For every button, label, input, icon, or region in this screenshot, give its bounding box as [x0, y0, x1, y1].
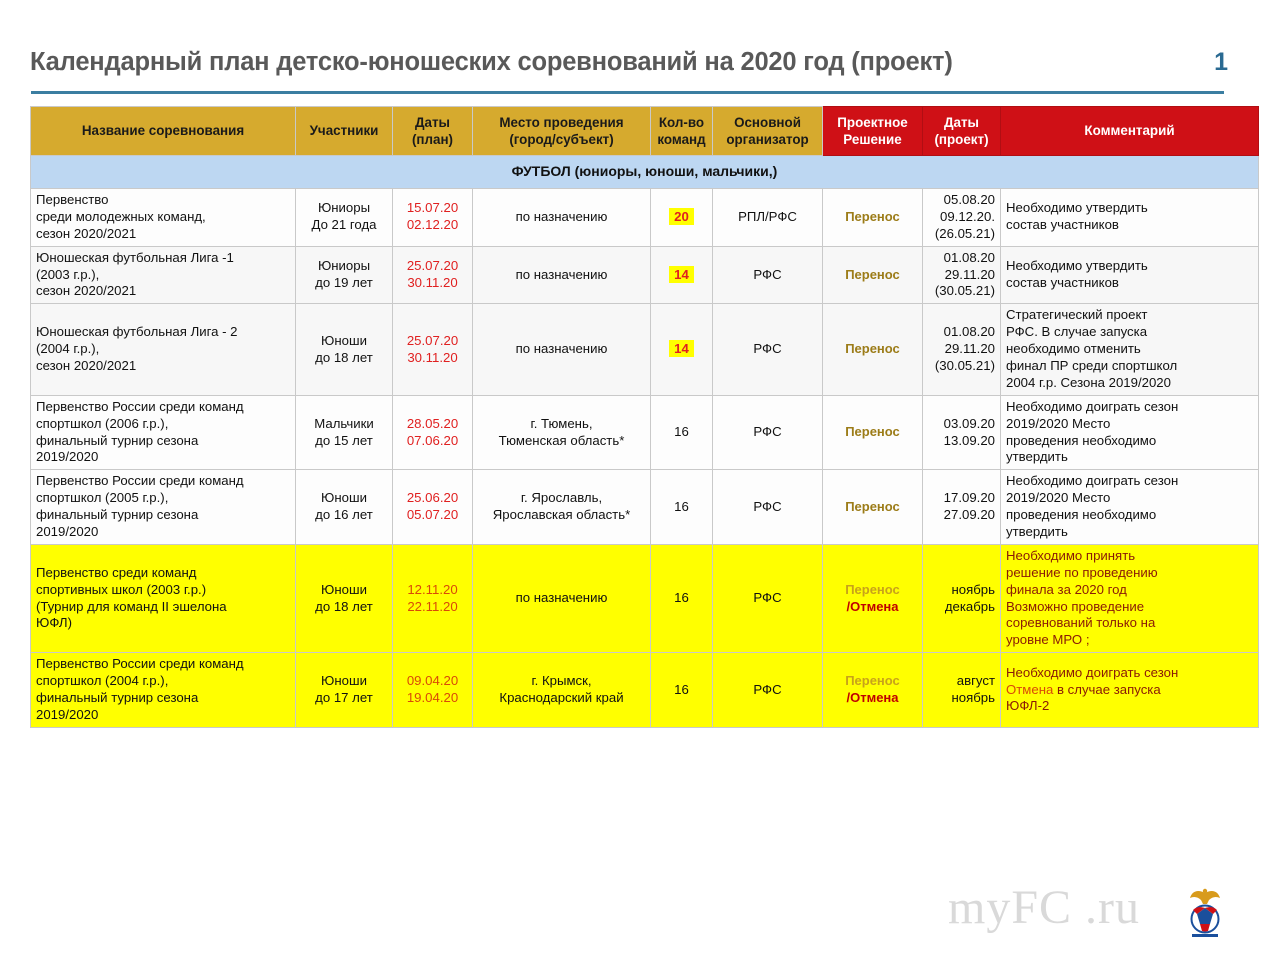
cell-dates-plan: 09.04.2019.04.20 — [393, 653, 473, 728]
table-column-header-8: Комментарий — [1001, 107, 1259, 156]
column-header-line1: Комментарий — [1084, 123, 1174, 138]
column-header-line1: Даты — [415, 115, 450, 130]
cell-competition-name: Первенство среди командспортивных школ (… — [31, 544, 296, 652]
cell-project-decision: Перенос — [823, 304, 923, 395]
column-header-line1: Даты — [944, 115, 979, 130]
cell-comment: Необходимо принятьрешение по проведениюф… — [1001, 544, 1259, 652]
cell-dates-project: 17.09.2027.09.20 — [923, 470, 1001, 545]
cell-place: по назначению — [473, 544, 651, 652]
column-header-line1: Место проведения — [499, 115, 623, 130]
column-header-line2: команд — [657, 132, 705, 147]
cell-dates-project: 01.08.2029.11.20(30.05.21) — [923, 246, 1001, 304]
decision-primary: Перенос — [845, 499, 900, 514]
column-header-line2: (город/субъект) — [509, 132, 613, 147]
table-column-header-7: Даты(проект) — [923, 107, 1001, 156]
cell-team-count: 16 — [651, 544, 713, 652]
cell-project-decision: Перенос — [823, 246, 923, 304]
cell-team-count: 16 — [651, 470, 713, 545]
cell-team-count: 20 — [651, 189, 713, 247]
table-column-header-3: Место проведения(город/субъект) — [473, 107, 651, 156]
table-row: Первенство России среди командспортшкол … — [31, 470, 1259, 545]
slide-canvas: Календарный план детско-юношеских соревн… — [0, 0, 1280, 960]
cell-dates-project: 05.08.2009.12.20.(26.05.21) — [923, 189, 1001, 247]
title-divider — [31, 91, 1224, 94]
cell-dates-project: 01.08.2029.11.20(30.05.21) — [923, 304, 1001, 395]
decision-primary: Перенос — [845, 673, 900, 688]
cell-team-count: 16 — [651, 395, 713, 470]
table-header-row: Название соревнованияУчастникиДаты(план)… — [31, 107, 1259, 156]
cell-place: г. Ярославль,Ярославская область* — [473, 470, 651, 545]
decision-primary: Перенос — [845, 341, 900, 356]
column-header-line1: Участники — [310, 123, 379, 138]
cell-competition-name: Юношеская футбольная Лига -1(2003 г.р.),… — [31, 246, 296, 304]
cell-organizer: РФС — [713, 304, 823, 395]
cell-team-count: 14 — [651, 246, 713, 304]
table-row: Первенствосреди молодежных команд,сезон … — [31, 189, 1259, 247]
decision-primary: Перенос — [845, 424, 900, 439]
cell-competition-name: Первенство России среди командспортшкол … — [31, 470, 296, 545]
table-column-header-6: ПроектноеРешение — [823, 107, 923, 156]
cell-project-decision: Перенос — [823, 470, 923, 545]
decision-cancel: /Отмена — [828, 690, 917, 707]
cell-organizer: РФС — [713, 470, 823, 545]
cell-place: г. Тюмень,Тюменская область* — [473, 395, 651, 470]
cell-participants: Мальчикидо 15 лет — [296, 395, 393, 470]
cell-participants: Юниорыдо 19 лет — [296, 246, 393, 304]
table-body: ФУТБОЛ (юниоры, юноши, мальчики,)Первенс… — [31, 156, 1259, 728]
cell-participants: Юношидо 18 лет — [296, 304, 393, 395]
cell-organizer: РПЛ/РФС — [713, 189, 823, 247]
cell-organizer: РФС — [713, 246, 823, 304]
table-row: Юношеская футбольная Лига -1(2003 г.р.),… — [31, 246, 1259, 304]
column-header-line1: Проектное — [837, 115, 907, 130]
cell-project-decision: Перенос/Отмена — [823, 544, 923, 652]
cell-place: по назначению — [473, 189, 651, 247]
slide-number: 1 — [1214, 48, 1252, 77]
page-title: Календарный план детско-юношеских соревн… — [30, 48, 953, 77]
table-section-band: ФУТБОЛ (юниоры, юноши, мальчики,) — [31, 156, 1259, 189]
cell-participants: Юношидо 18 лет — [296, 544, 393, 652]
column-header-line2: Решение — [843, 132, 901, 147]
cell-project-decision: Перенос/Отмена — [823, 653, 923, 728]
team-count-badge: 14 — [669, 266, 694, 283]
cell-dates-plan: 25.07.2030.11.20 — [393, 304, 473, 395]
cell-comment: Необходимо утвердитьсостав участников — [1001, 189, 1259, 247]
cell-comment: Необходимо утвердитьсостав участников — [1001, 246, 1259, 304]
cell-place: по назначению — [473, 304, 651, 395]
cell-organizer: РФС — [713, 544, 823, 652]
table-column-header-2: Даты(план) — [393, 107, 473, 156]
cell-participants: ЮниорыДо 21 года — [296, 189, 393, 247]
watermark-text: myFC .ru — [948, 880, 1140, 935]
cell-competition-name: Юношеская футбольная Лига - 2(2004 г.р.)… — [31, 304, 296, 395]
decision-primary: Перенос — [845, 267, 900, 282]
cell-participants: Юношидо 16 лет — [296, 470, 393, 545]
cell-project-decision: Перенос — [823, 395, 923, 470]
comment-text: Необходимо доиграть сезон — [1006, 665, 1178, 680]
cell-competition-name: Первенство России среди командспортшкол … — [31, 653, 296, 728]
comment-accent: Отмена — [1006, 682, 1053, 697]
cell-comment: Необходимо доиграть сезон2019/2020 Место… — [1001, 470, 1259, 545]
decision-primary: Перенос — [845, 582, 900, 597]
column-header-line1: Название соревнования — [82, 123, 244, 138]
team-count-badge: 14 — [669, 340, 694, 357]
cell-dates-plan: 12.11.2022.11.20 — [393, 544, 473, 652]
slide-title-row: Календарный план детско-юношеских соревн… — [30, 48, 1252, 77]
cell-place: г. Крымск,Краснодарский край — [473, 653, 651, 728]
cell-organizer: РФС — [713, 395, 823, 470]
table-column-header-5: Основнойорганизатор — [713, 107, 823, 156]
section-label: ФУТБОЛ (юниоры, юноши, мальчики,) — [31, 156, 1259, 189]
cell-comment: Необходимо доиграть сезон2019/2020 Место… — [1001, 395, 1259, 470]
cell-dates-project: 03.09.2013.09.20 — [923, 395, 1001, 470]
decision-primary: Перенос — [845, 209, 900, 224]
table-row: Юношеская футбольная Лига - 2(2004 г.р.)… — [31, 304, 1259, 395]
cell-dates-plan: 28.05.2007.06.20 — [393, 395, 473, 470]
table-row: Первенство России среди командспортшкол … — [31, 395, 1259, 470]
column-header-line2: организатор — [726, 132, 808, 147]
column-header-line1: Основной — [734, 115, 801, 130]
cell-organizer: РФС — [713, 653, 823, 728]
cell-dates-project: августноябрь — [923, 653, 1001, 728]
cell-team-count: 14 — [651, 304, 713, 395]
cell-competition-name: Первенство России среди командспортшкол … — [31, 395, 296, 470]
column-header-line2: (проект) — [934, 132, 988, 147]
cell-dates-plan: 25.07.2030.11.20 — [393, 246, 473, 304]
cell-team-count: 16 — [651, 653, 713, 728]
table-column-header-1: Участники — [296, 107, 393, 156]
cell-place: по назначению — [473, 246, 651, 304]
table-header: Название соревнованияУчастникиДаты(план)… — [31, 107, 1259, 156]
cell-project-decision: Перенос — [823, 189, 923, 247]
cell-comment: Стратегический проектРФС. В случае запус… — [1001, 304, 1259, 395]
competition-calendar-table: Название соревнованияУчастникиДаты(план)… — [30, 106, 1259, 728]
team-count-badge: 20 — [669, 208, 694, 225]
cell-dates-project: ноябрьдекабрь — [923, 544, 1001, 652]
cell-participants: Юношидо 17 лет — [296, 653, 393, 728]
column-header-line1: Кол-во — [659, 115, 704, 130]
table-column-header-4: Кол-вокоманд — [651, 107, 713, 156]
cell-comment: Необходимо доиграть сезонОтмена в случае… — [1001, 653, 1259, 728]
table-row: Первенство России среди командспортшкол … — [31, 653, 1259, 728]
cell-dates-plan: 15.07.2002.12.20 — [393, 189, 473, 247]
table-row: Первенство среди командспортивных школ (… — [31, 544, 1259, 652]
cell-competition-name: Первенствосреди молодежных команд,сезон … — [31, 189, 296, 247]
cell-dates-plan: 25.06.2005.07.20 — [393, 470, 473, 545]
decision-cancel: /Отмена — [828, 599, 917, 616]
table-column-header-0: Название соревнования — [31, 107, 296, 156]
rfu-eagle-ball-logo-icon — [1182, 886, 1228, 942]
column-header-line2: (план) — [412, 132, 453, 147]
